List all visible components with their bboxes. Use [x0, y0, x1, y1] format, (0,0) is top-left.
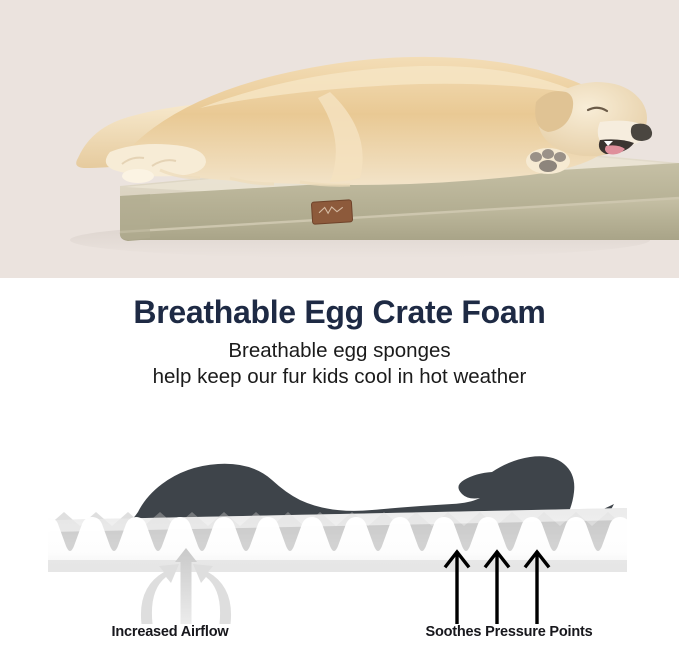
- caption-soothes-pressure-points: Soothes Pressure Points: [339, 624, 679, 640]
- caption-increased-airflow: Increased Airflow: [0, 624, 340, 640]
- feature-subtitle-line-1: Breathable egg sponges: [0, 338, 679, 364]
- airflow-arrow-left-icon: [141, 564, 179, 624]
- dog-front-paws-left: [106, 144, 206, 176]
- feature-subtitle-line-2: help keep our fur kids cool in hot weath…: [0, 364, 679, 390]
- foam-cross-section-diagram: [0, 400, 679, 624]
- airflow-arrow-center-icon: [175, 548, 197, 624]
- foam-diagram-illustration: [0, 400, 679, 624]
- diagram-captions: Increased Airflow Soothes Pressure Point…: [0, 624, 679, 650]
- bed-left-corner-shade: [120, 194, 150, 240]
- brand-tag: [311, 200, 352, 224]
- product-photo: [0, 0, 679, 278]
- feature-subtitle: Breathable egg sponges help keep our fur…: [0, 338, 679, 390]
- dog-nose: [631, 124, 652, 141]
- brand-tag-leather: [311, 200, 352, 224]
- product-feature-image: Breathable Egg Crate Foam Breathable egg…: [0, 0, 679, 650]
- feature-text-block: Breathable Egg Crate Foam Breathable egg…: [0, 278, 679, 400]
- product-photo-illustration: [0, 0, 679, 278]
- dog-paw-extended: [122, 169, 154, 183]
- foam-bottom-shading: [48, 560, 627, 572]
- dog-front-paw-right: [526, 148, 570, 174]
- pressure-arrow-1-icon: [446, 552, 468, 624]
- feature-headline: Breathable Egg Crate Foam: [0, 278, 679, 331]
- pressure-arrow-3-icon: [526, 552, 548, 624]
- pressure-arrow-2-icon: [486, 552, 508, 624]
- airflow-arrow-right-icon: [193, 564, 231, 624]
